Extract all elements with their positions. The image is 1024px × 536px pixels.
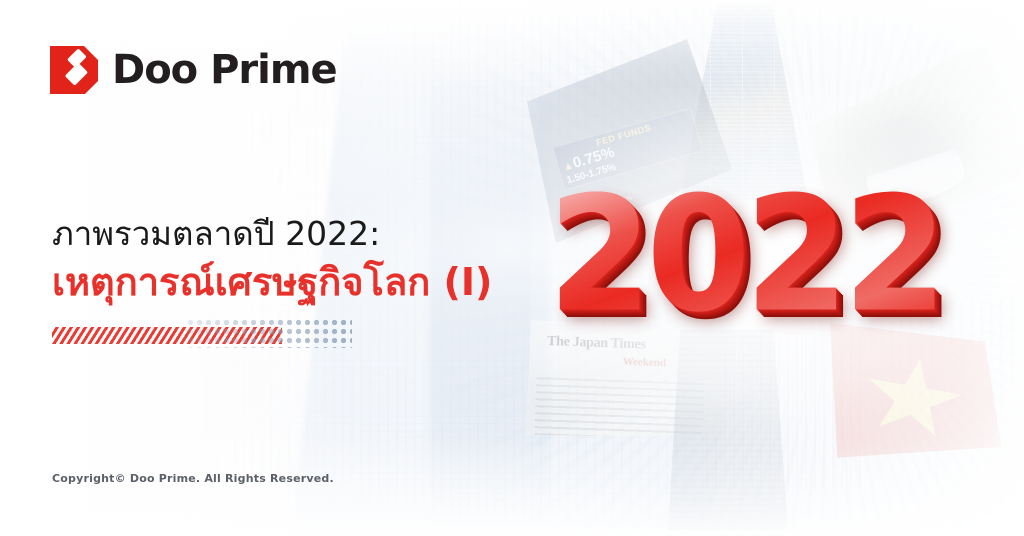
newspaper-edition: Weekend <box>622 355 666 369</box>
brand-logo[interactable]: Doo Prime <box>50 46 337 94</box>
headline-line-1: ภาพรวมตลาดปี 2022: <box>52 213 492 255</box>
brand-name: Doo Prime <box>112 47 337 93</box>
copyright-text: Copyright© Doo Prime. All Rights Reserve… <box>52 472 334 485</box>
city-skyscraper-photo <box>668 330 788 530</box>
headline-block: ภาพรวมตลาดปี 2022: เหตุการณ์เศรษฐกิจโลก … <box>52 213 492 307</box>
year-3d-text: 2022 <box>548 176 968 346</box>
decorative-rule <box>52 318 352 350</box>
doo-prime-flag-mark-icon <box>50 46 98 94</box>
star-icon <box>858 350 969 447</box>
marketing-banner: FED FUNDS ▲0.75% 1.50-1.75% RAISES RATES… <box>0 0 1024 536</box>
logo-corner-notch-top <box>84 46 98 60</box>
logo-corner-notch-bottom <box>85 81 98 94</box>
headline-line-2: เหตุการณ์เศรษฐกิจโลก (I) <box>52 257 492 307</box>
halftone-dot-grid <box>186 318 352 348</box>
